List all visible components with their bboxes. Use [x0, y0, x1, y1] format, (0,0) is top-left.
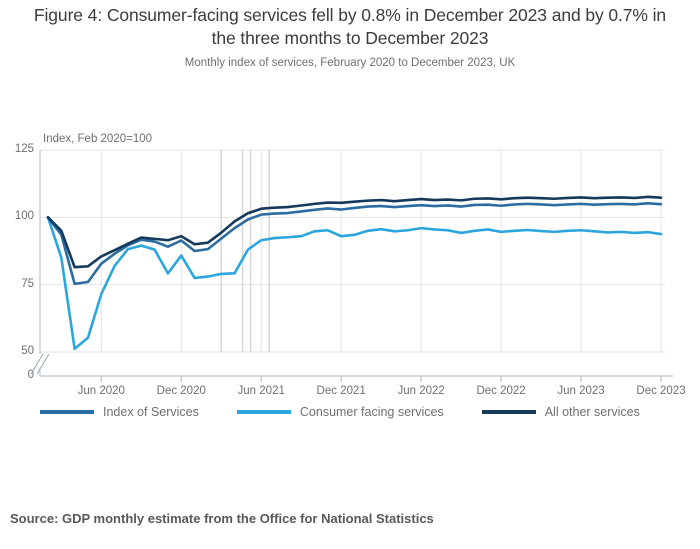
x-axis-tick-label: Dec 2021 [317, 385, 366, 397]
legend-item[interactable]: Consumer facing services [237, 405, 444, 419]
chart-area: Index, Feb 2020=100 05075100125 Jun 2020… [0, 120, 700, 385]
x-axis-tick-label: Dec 2022 [476, 385, 525, 397]
chart-legend: Index of ServicesConsumer facing service… [40, 405, 680, 419]
source-note: Source: GDP monthly estimate from the Of… [10, 511, 434, 526]
legend-item-label: All other services [545, 405, 640, 419]
figure-container: Figure 4: Consumer-facing services fell … [0, 0, 700, 549]
legend-swatch-index-of-services [40, 410, 94, 414]
axis-lines [0, 120, 700, 385]
page-subtitle: Monthly index of services, February 2020… [20, 55, 680, 71]
legend-item-label: Consumer facing services [300, 405, 444, 419]
legend-swatch-all-other-services [482, 410, 536, 414]
legend-item[interactable]: All other services [482, 405, 640, 419]
legend-item[interactable]: Index of Services [40, 405, 199, 419]
x-axis-tick-label: Jun 2023 [557, 385, 604, 397]
x-axis-tick-label: Dec 2020 [157, 385, 206, 397]
page-title: Figure 4: Consumer-facing services fell … [20, 4, 680, 50]
x-axis-tick-label: Jun 2020 [78, 385, 125, 397]
legend-swatch-consumer-facing-services [237, 410, 291, 414]
x-axis-tick-label: Jun 2022 [397, 385, 444, 397]
x-axis-tick-label: Jun 2021 [238, 385, 285, 397]
x-axis-tick-label: Dec 2023 [636, 385, 685, 397]
legend-item-label: Index of Services [103, 405, 199, 419]
